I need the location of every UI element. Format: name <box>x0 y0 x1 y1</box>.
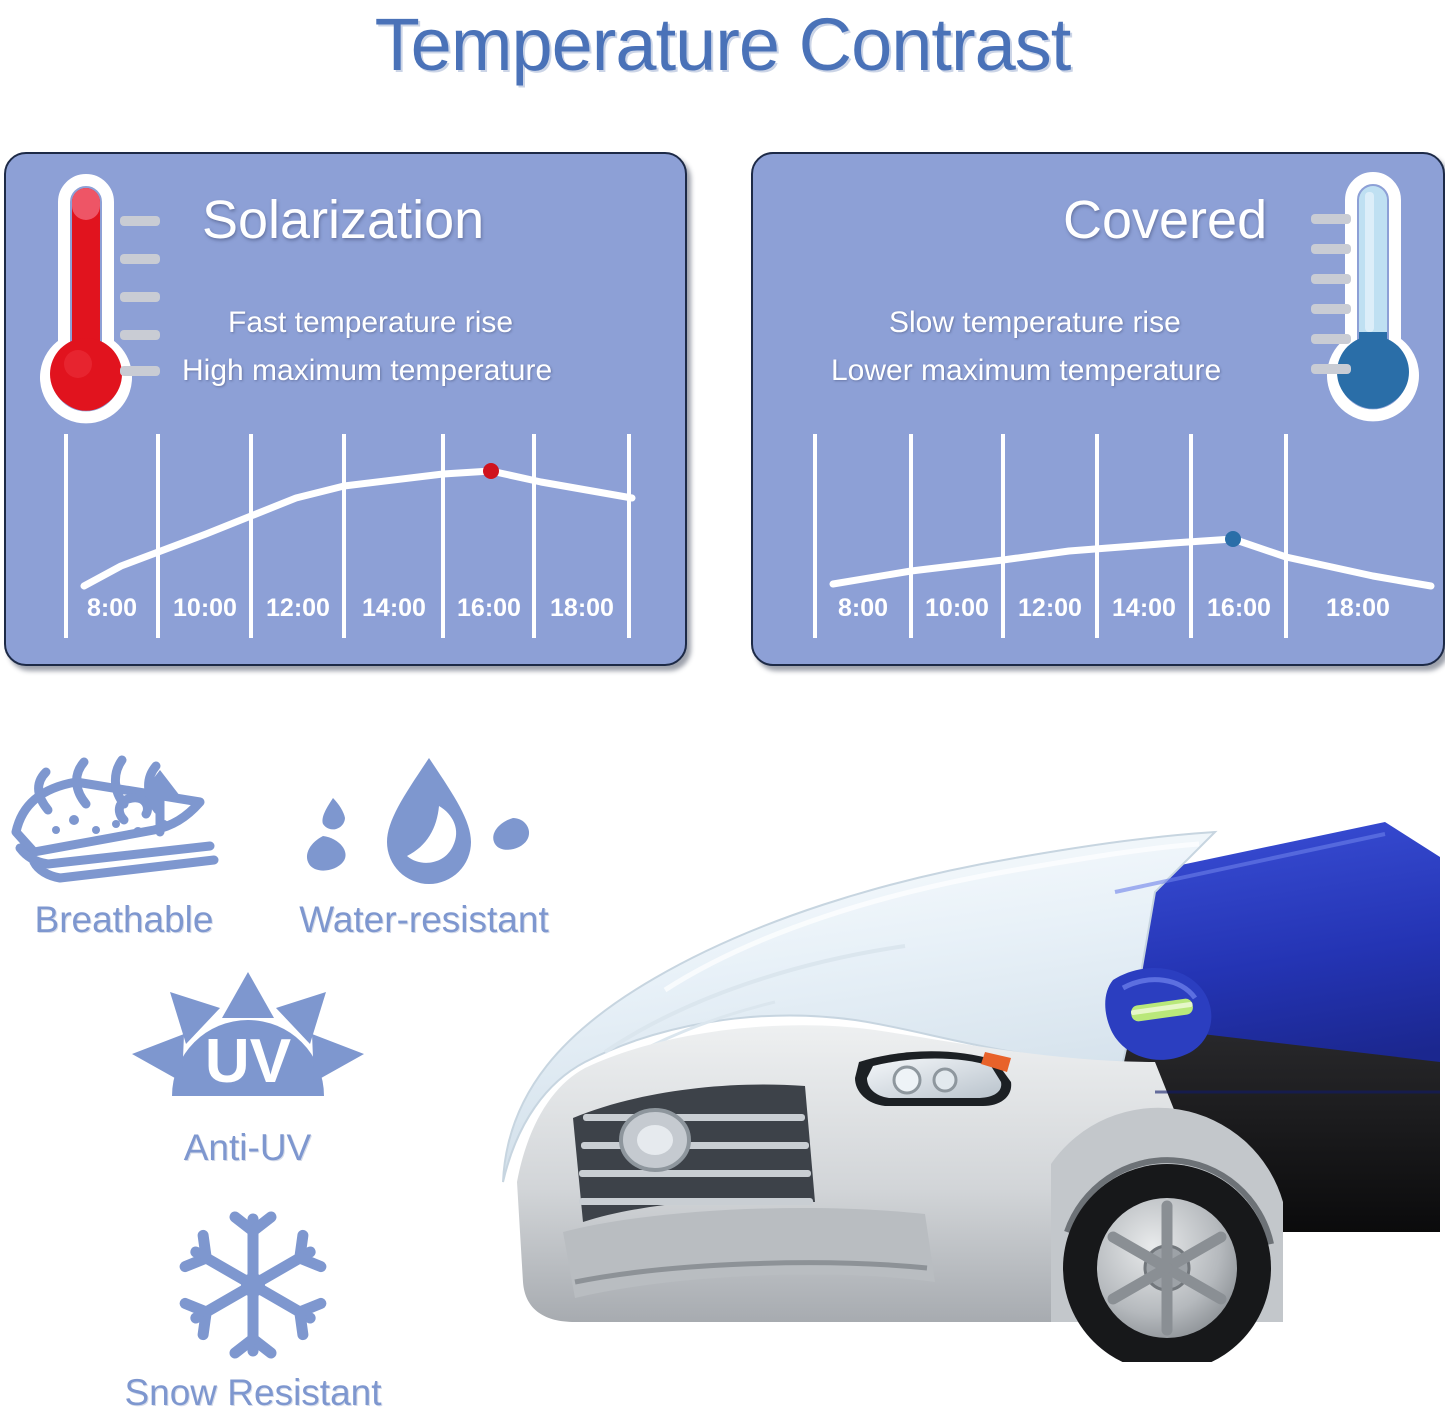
panel-heading-covered: Covered <box>1063 190 1267 250</box>
feature-breathable: Breathable <box>0 752 248 941</box>
suv-with-car-cover-photo <box>455 762 1445 1362</box>
panel-covered: Covered Slow temperature rise Lower maxi… <box>751 152 1445 666</box>
breathable-fabric-icon <box>4 752 244 892</box>
uv-sun-icon: UV <box>128 970 368 1120</box>
panel-subtitle-line-2: Lower maximum temperature <box>831 350 1221 392</box>
chart-solarization: 8:00 10:00 12:00 14:00 16:00 18:00 <box>6 426 685 658</box>
tick-label: 10:00 <box>925 594 989 622</box>
feature-label: Snow Resistant <box>108 1372 398 1414</box>
chart-line-solarization <box>84 471 632 586</box>
hot-thermometer-ticks <box>120 216 160 376</box>
tick-label: 10:00 <box>173 594 237 622</box>
tick-label: 8:00 <box>838 594 888 622</box>
chart-marker-solarization <box>483 463 499 479</box>
tick-label: 18:00 <box>1326 594 1390 622</box>
tick-label: 12:00 <box>1018 594 1082 622</box>
uv-badge-text: UV <box>204 1027 290 1096</box>
feature-anti-uv: UV Anti-UV <box>125 970 370 1169</box>
page-title: Temperature Contrast <box>0 2 1445 88</box>
panel-solarization: Solarization Fast temperature rise High … <box>4 152 687 666</box>
cold-thermometer <box>1293 172 1443 427</box>
feature-label: Anti-UV <box>125 1127 370 1169</box>
tick-label: 12:00 <box>266 594 330 622</box>
tick-label: 18:00 <box>550 594 614 622</box>
chart-marker-covered <box>1225 531 1241 547</box>
feature-label: Breathable <box>0 899 248 941</box>
panel-heading-solarization: Solarization <box>202 190 484 250</box>
snowflake-icon <box>108 1205 398 1365</box>
chart-line-covered <box>833 539 1431 586</box>
tick-label: 14:00 <box>362 594 426 622</box>
hot-thermometer <box>28 174 178 429</box>
panel-subtitle-line-1: Slow temperature rise <box>889 302 1181 344</box>
panel-subtitle-line-2: High maximum temperature <box>182 350 552 392</box>
feature-snow-resistant: Snow Resistant <box>108 1205 398 1414</box>
tick-label: 16:00 <box>457 594 521 622</box>
tick-label: 14:00 <box>1112 594 1176 622</box>
chart-gridlines-solarization <box>66 434 629 638</box>
tick-label: 16:00 <box>1207 594 1271 622</box>
chart-covered: 8:00 10:00 12:00 14:00 16:00 18:00 <box>753 426 1443 658</box>
panel-subtitle-line-1: Fast temperature rise <box>228 302 513 344</box>
chart-tick-labels-covered: 8:00 10:00 12:00 14:00 16:00 18:00 <box>838 594 1390 622</box>
tick-label: 8:00 <box>87 594 137 622</box>
